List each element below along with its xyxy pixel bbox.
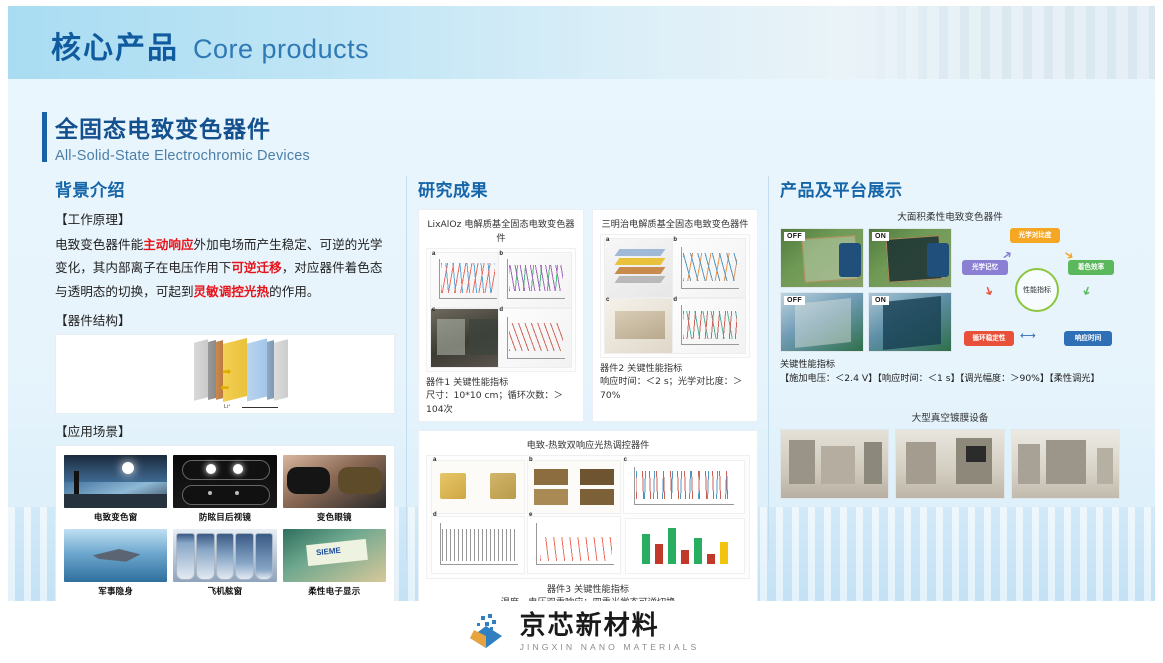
panel-tag-d2: d xyxy=(673,297,677,303)
photo-c xyxy=(430,308,504,368)
scenario-thumb-2 xyxy=(173,455,276,508)
equipment-photo-3[interactable] xyxy=(1011,429,1120,499)
footer: 京芯新材料 JINGXIN NANO MATERIALS xyxy=(0,601,1163,663)
kpi-item-2: 【响应时间：＜1 s】 xyxy=(877,373,959,384)
panel-tag-d: d xyxy=(499,307,503,313)
section-accent-bar xyxy=(42,112,47,162)
scenario-caption-3: 变色眼镜 xyxy=(317,511,352,523)
plot-d2 xyxy=(672,298,746,354)
device-photo-on-1[interactable]: ON xyxy=(868,228,952,288)
header-band: 核心产品 Core products xyxy=(8,6,1155,79)
panel-tag-c: c xyxy=(432,307,435,313)
panel-tag-b3: b xyxy=(529,457,533,463)
flexible-device-heading: 大面积柔性电致变色器件 xyxy=(780,209,1120,223)
scenario-thumb-1 xyxy=(64,455,167,508)
ion-arrow-right-icon: ➡ xyxy=(222,365,231,378)
research-card-2-heading: 三明治电解质基全固态电致变色器件 xyxy=(600,216,750,230)
footer-brand-cn: 京芯新材料 xyxy=(520,613,700,639)
stack-layer-7 xyxy=(274,339,288,400)
radial-node-optical-contrast: 光学对比度 xyxy=(1010,228,1060,243)
fig3-f-bars xyxy=(625,518,745,574)
research-card-1-heading: LixAlOz 电解质基全固态电致变色器件 xyxy=(426,216,576,244)
principle-text-0: 电致变色器件能 xyxy=(55,237,143,252)
panel-tag-c2: c xyxy=(606,297,609,303)
device-stack-diagram: ➡ ⬅ Li⁺ xyxy=(194,341,314,407)
state-badge-off-2: OFF xyxy=(784,296,805,305)
panel-tag-b: b xyxy=(499,251,503,257)
state-badge-off-1: OFF xyxy=(784,232,805,241)
plot-d xyxy=(498,308,572,368)
research-card-1-caption-line2: 尺寸：10*10 cm；循环次数：＞104次 xyxy=(426,389,576,416)
slide: 核心产品 Core products 全固态电致变色器件 All-Solid-S… xyxy=(0,0,1163,663)
device-photo-on-2[interactable]: ON xyxy=(868,292,952,352)
scenario-cell-3[interactable]: 变色眼镜 xyxy=(283,455,386,525)
fig3-e xyxy=(527,516,621,574)
radial-node-cycle-stability: 循环稳定性 xyxy=(964,331,1014,346)
section-title: 全固态电致变色器件 All-Solid-State Electrochromic… xyxy=(55,110,310,164)
panel-tag-a2: a xyxy=(606,237,609,243)
research-card-2-caption-line1: 器件2 关键性能指标 xyxy=(600,362,750,375)
scenario-label: 【应用场景】 xyxy=(55,421,395,440)
radial-node-response-time: 响应时间 xyxy=(1064,331,1112,346)
scenario-cell-5[interactable]: 飞机舷窗 xyxy=(173,529,276,599)
research-card-1-figure: a b c d xyxy=(426,248,576,372)
device-photo-off-2[interactable]: OFF xyxy=(780,292,864,352)
application-scenarios: 电致变色窗防眩目后视镜变色眼镜军事隐身飞机舷窗SIEME柔性电子显示 xyxy=(55,445,395,606)
column-products: 产品及平台展示 大面积柔性电致变色器件 OFF ON OFF xyxy=(780,176,1120,499)
header-city-graphic xyxy=(855,6,1155,79)
panel-tag-a3: a xyxy=(433,457,436,463)
plot-a xyxy=(430,252,504,308)
principle-highlight-5: 灵敏调控光热 xyxy=(194,284,270,299)
performance-radial-diagram: 光学对比度 光学记忆 着色效率 循环稳定性 响应时间 性能指标 ➜ ➜ ➜ ➜ … xyxy=(962,228,1114,352)
circuit-wire xyxy=(242,407,278,408)
panel-tag-b2: b xyxy=(673,237,677,243)
section-title-cn: 全固态电致变色器件 xyxy=(55,110,310,144)
research-card-3[interactable]: 电致-热致双响应光热调控器件 xyxy=(418,430,758,616)
device-photo-off-1[interactable]: OFF xyxy=(780,228,864,288)
research-card-1[interactable]: LixAlOz 电解质基全固态电致变色器件 xyxy=(418,209,584,422)
panel-tag-d3: d xyxy=(433,512,437,518)
research-card-1-caption-line1: 器件1 关键性能指标 xyxy=(426,376,576,389)
stack-layer-1 xyxy=(194,339,208,400)
section-title-en: All-Solid-State Electrochromic Devices xyxy=(55,148,310,164)
radial-node-coloration-efficiency: 着色效率 xyxy=(1068,260,1114,275)
research-card-3-figure: a b c d e xyxy=(426,455,750,579)
flexible-device-block: OFF ON OFF ON 光学对比度 光学记忆 xyxy=(780,228,1120,352)
radial-center-label: 性能指标 xyxy=(1015,268,1059,312)
device-photo-grid: OFF ON OFF ON xyxy=(780,228,952,352)
scenario-cell-6[interactable]: SIEME柔性电子显示 xyxy=(283,529,386,599)
radial-arrow-bottom-icon: ⟷ xyxy=(1020,329,1036,342)
schematic-a xyxy=(604,238,678,298)
logo-icon xyxy=(464,612,509,652)
header-title-cn: 核心产品 xyxy=(51,23,179,67)
scenario-thumb-6: SIEME xyxy=(283,529,386,582)
fig3-c xyxy=(623,460,745,514)
state-badge-on-1: ON xyxy=(872,232,889,241)
column-background: 背景介绍 【工作原理】 电致变色器件能主动响应外加电场而产生稳定、可逆的光学变化… xyxy=(55,176,395,606)
scenario-grid: 电致变色窗防眩目后视镜变色眼镜军事隐身飞机舷窗SIEME柔性电子显示 xyxy=(64,455,386,599)
structure-ion-label: Li⁺ xyxy=(224,404,231,410)
scenario-caption-6: 柔性电子显示 xyxy=(308,585,360,597)
products-title: 产品及平台展示 xyxy=(780,176,1120,201)
column-research: 研究成果 LixAlOz 电解质基全固态电致变色器件 xyxy=(418,176,758,616)
principle-highlight-1: 主动响应 xyxy=(143,237,193,252)
research-card-2-figure: a b c d xyxy=(600,234,750,358)
scenario-caption-5: 飞机舷窗 xyxy=(208,585,243,597)
header-title-en: Core products xyxy=(193,34,369,65)
kpi-items: 【施加电压：＜2.4 V】【响应时间：＜1 s】【调光幅度：＞90%】【柔性调光… xyxy=(780,372,1120,386)
scenario-thumb-3 xyxy=(283,455,386,508)
scenario-cell-2[interactable]: 防眩目后视镜 xyxy=(173,455,276,525)
plot-b xyxy=(498,252,572,308)
radial-arrow-downleft-icon: ➜ xyxy=(981,284,998,298)
radial-node-optical-memory: 光学记忆 xyxy=(962,260,1008,275)
footer-brand: 京芯新材料 JINGXIN NANO MATERIALS xyxy=(520,613,700,652)
scenario-caption-1: 电致变色窗 xyxy=(94,511,138,523)
ion-arrow-left-icon: ⬅ xyxy=(220,381,229,394)
stack-layer-6 xyxy=(267,340,274,400)
principle-label: 【工作原理】 xyxy=(55,209,395,228)
research-title: 研究成果 xyxy=(418,176,758,201)
scenario-caption-2: 防眩目后视镜 xyxy=(199,511,251,523)
device-structure-figure: ➡ ⬅ Li⁺ xyxy=(55,334,395,414)
stack-layer-5 xyxy=(247,338,267,401)
column-divider-2 xyxy=(768,176,769,561)
kpi-item-4: 【柔性调光】 xyxy=(1049,373,1100,384)
principle-highlight-3: 可逆迁移 xyxy=(231,260,281,275)
equipment-photo-1[interactable] xyxy=(780,429,889,499)
scenario-cell-4[interactable]: 军事隐身 xyxy=(64,529,167,599)
panel-tag-c3: c xyxy=(624,457,627,463)
principle-paragraph: 电致变色器件能主动响应外加电场而产生稳定、可逆的光学变化，其内部离子在电压作用下… xyxy=(55,233,395,303)
research-card-3-caption-line1: 器件3 关键性能指标 xyxy=(426,583,750,596)
scenario-thumb-4 xyxy=(64,529,167,582)
stack-layer-2 xyxy=(208,340,216,400)
state-badge-on-2: ON xyxy=(872,296,889,305)
equipment-photo-2[interactable] xyxy=(895,429,1004,499)
kpi-title: 关键性能指标 xyxy=(780,358,1120,372)
scenario-cell-1[interactable]: 电致变色窗 xyxy=(64,455,167,525)
radial-arrow-downright-icon: ➜ xyxy=(1079,284,1096,298)
research-card-2[interactable]: 三明治电解质基全固态电致变色器件 xyxy=(592,209,758,422)
equipment-photo-row xyxy=(780,429,1120,499)
kpi-item-1: 【施加电压：＜2.4 V】 xyxy=(780,373,877,384)
panel-tag-a: a xyxy=(432,251,435,257)
equipment-heading: 大型真空镀膜设备 xyxy=(780,410,1120,424)
structure-label: 【器件结构】 xyxy=(55,310,395,329)
research-card-row: LixAlOz 电解质基全固态电致变色器件 xyxy=(418,209,758,422)
kpi-item-3: 【调光幅度：＞90%】 xyxy=(960,373,1049,384)
schematic-c2 xyxy=(604,298,678,354)
research-card-2-caption-line2: 响应时间：＜2 s；光学对比度：＞70% xyxy=(600,375,750,402)
plot-b2 xyxy=(672,238,746,298)
footer-brand-en: JINGXIN NANO MATERIALS xyxy=(520,642,700,652)
fig3-b xyxy=(527,460,621,514)
principle-text-6: 的作用。 xyxy=(269,284,319,299)
column-divider-1 xyxy=(406,176,407,561)
scenario-thumb-5 xyxy=(173,529,276,582)
panel-tag-e3: e xyxy=(529,512,532,518)
fig3-a xyxy=(431,460,525,514)
background-title: 背景介绍 xyxy=(55,176,395,201)
fig3-d xyxy=(431,516,525,574)
header-title: 核心产品 Core products xyxy=(51,23,369,67)
research-card-3-heading: 电致-热致双响应光热调控器件 xyxy=(426,437,750,451)
scenario-caption-4: 军事隐身 xyxy=(98,585,133,597)
